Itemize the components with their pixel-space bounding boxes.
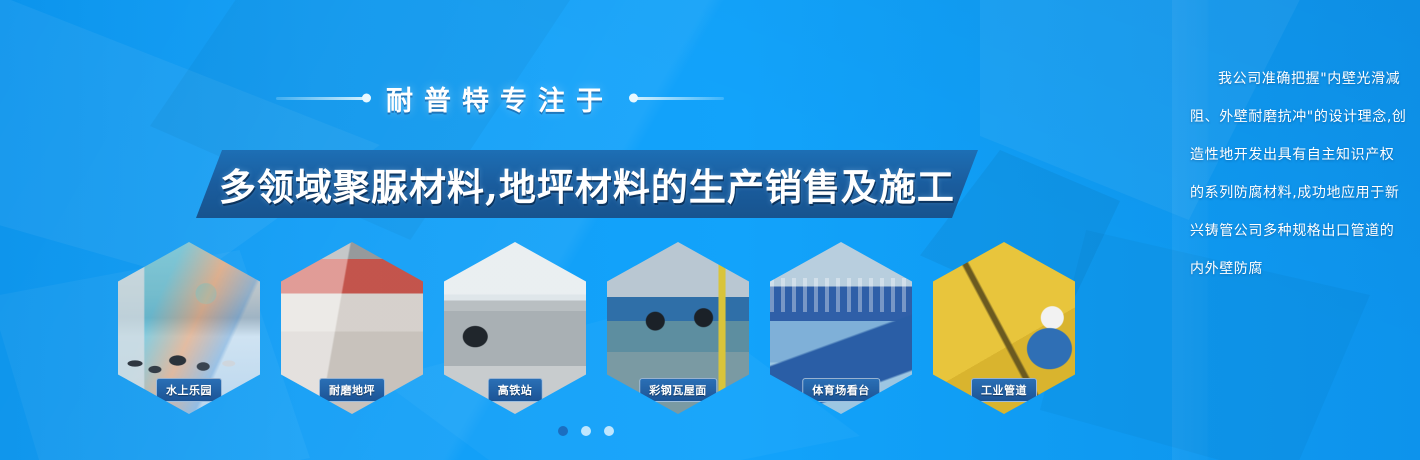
rule-dot-icon bbox=[629, 94, 638, 103]
carousel-dot-2[interactable] bbox=[581, 426, 591, 436]
carousel-dot-3[interactable] bbox=[604, 426, 614, 436]
thumbnail-color-steel-roof[interactable]: 彩钢瓦屋面 bbox=[607, 242, 749, 414]
company-description-panel: 我公司准确把握"内壁光滑减 阻、外壁耐磨抗冲"的设计理念,创 造性地开发出具有自… bbox=[1172, 0, 1420, 460]
thumbnail-caption: 彩钢瓦屋面 bbox=[639, 378, 717, 402]
decorative-rule-right bbox=[632, 97, 724, 100]
decorative-rule-left bbox=[276, 97, 368, 100]
banner-headline: 多领域聚脲材料,地坪材料的生产销售及施工 bbox=[219, 157, 955, 211]
thumbnail-row: 水上乐园 耐磨地坪 高铁站 彩钢瓦屋面 体育场看台 工业管道 bbox=[118, 242, 1078, 422]
carousel-indicators[interactable] bbox=[0, 426, 1172, 436]
rule-dot-icon bbox=[362, 94, 371, 103]
subtitle-row: 耐普特专注于 bbox=[0, 78, 1000, 118]
description-line: 我公司准确把握"内壁光滑减 bbox=[1190, 72, 1402, 86]
description-line: 阻、外壁耐磨抗冲"的设计理念,创 bbox=[1190, 110, 1402, 124]
hero-banner: 耐普特专注于 多领域聚脲材料,地坪材料的生产销售及施工 水上乐园 耐磨地坪 高铁… bbox=[0, 0, 1420, 460]
thumbnail-high-speed-rail-station[interactable]: 高铁站 bbox=[444, 242, 586, 414]
thumbnail-stadium-stand[interactable]: 体育场看台 bbox=[770, 242, 912, 414]
description-line: 兴铸管公司多种规格出口管道的 bbox=[1190, 224, 1402, 238]
thumbnail-wear-resistant-floor[interactable]: 耐磨地坪 bbox=[281, 242, 423, 414]
description-line: 的系列防腐材料,成功地应用于新 bbox=[1190, 186, 1402, 200]
background-shard bbox=[0, 0, 380, 280]
thumbnail-caption: 体育场看台 bbox=[802, 378, 880, 402]
thumbnail-caption: 高铁站 bbox=[488, 378, 543, 402]
description-line: 造性地开发出具有自主知识产权 bbox=[1190, 148, 1402, 162]
headline-text-wrap: 多领域聚脲材料,地坪材料的生产销售及施工 bbox=[206, 150, 968, 218]
thumbnail-caption: 耐磨地坪 bbox=[319, 378, 385, 402]
thumbnail-water-park[interactable]: 水上乐园 bbox=[118, 242, 260, 414]
thumbnail-caption: 水上乐园 bbox=[156, 378, 222, 402]
thumbnail-industrial-pipeline[interactable]: 工业管道 bbox=[933, 242, 1075, 414]
carousel-dot-1[interactable] bbox=[558, 426, 568, 436]
banner-subtitle: 耐普特专注于 bbox=[386, 79, 614, 118]
description-line: 内外壁防腐 bbox=[1190, 262, 1402, 276]
thumbnail-caption: 工业管道 bbox=[971, 378, 1037, 402]
